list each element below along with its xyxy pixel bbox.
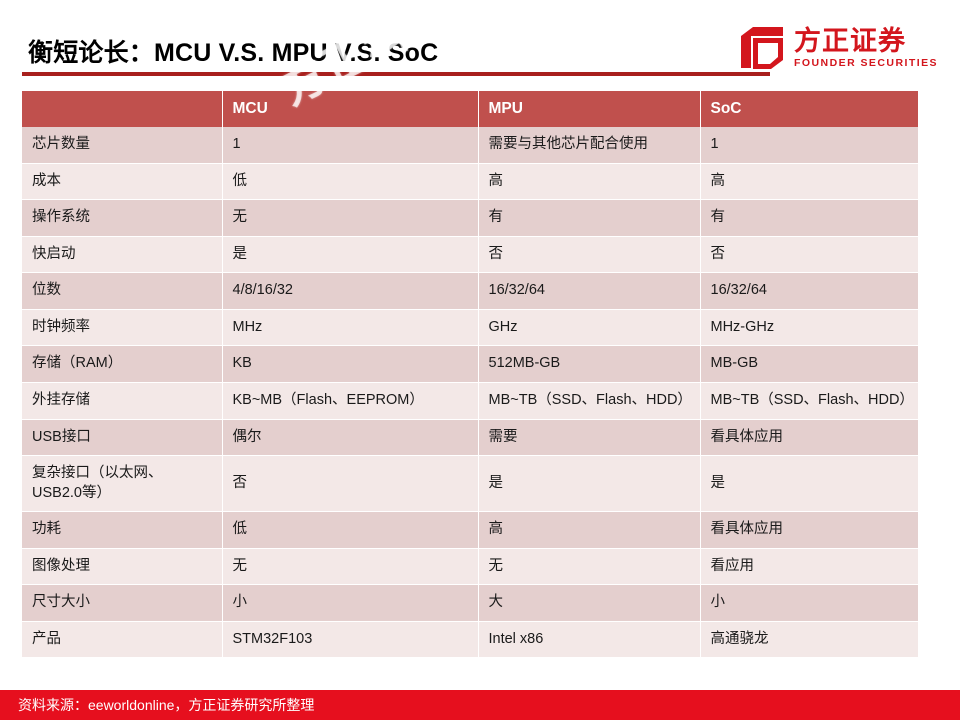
- comparison-table-container: MCU MPU SoC 芯片数量1需要与其他芯片配合使用1成本低高高操作系统无有…: [22, 91, 918, 658]
- logo-text-block: 方正证券 FOUNDER SECURITIES: [794, 27, 938, 69]
- cell-mpu-value: 否: [478, 236, 700, 273]
- cell-attribute-label: 产品: [22, 621, 222, 658]
- cell-attribute-label: 芯片数量: [22, 127, 222, 163]
- cell-mcu-value: 低: [222, 163, 478, 200]
- table-row: 位数4/8/16/3216/32/6416/32/64: [22, 273, 918, 310]
- cell-mcu-value: 低: [222, 512, 478, 549]
- cell-soc-value: 看应用: [700, 548, 918, 585]
- column-header-soc: SoC: [700, 91, 918, 127]
- cell-soc-value: MB~TB（SSD、Flash、HDD）: [700, 382, 918, 419]
- cell-mpu-value: MB~TB（SSD、Flash、HDD）: [478, 382, 700, 419]
- table-row: 外挂存储KB~MB（Flash、EEPROM）MB~TB（SSD、Flash、H…: [22, 382, 918, 419]
- table-row: 产品STM32F103Intel x86高通骁龙: [22, 621, 918, 658]
- founder-cube-icon: [739, 26, 785, 70]
- cell-mcu-value: MHz: [222, 309, 478, 346]
- cell-mcu-value: 4/8/16/32: [222, 273, 478, 310]
- comparison-table: MCU MPU SoC 芯片数量1需要与其他芯片配合使用1成本低高高操作系统无有…: [22, 91, 918, 658]
- company-logo: 方正证券 FOUNDER SECURITIES: [739, 26, 938, 70]
- cell-attribute-label: 操作系统: [22, 200, 222, 237]
- cell-mcu-value: 无: [222, 200, 478, 237]
- table-row: 快启动是否否: [22, 236, 918, 273]
- cell-mpu-value: 有: [478, 200, 700, 237]
- table-row: 存储（RAM）KB512MB-GBMB-GB: [22, 346, 918, 383]
- cell-soc-value: 高: [700, 163, 918, 200]
- cell-attribute-label: 存储（RAM）: [22, 346, 222, 383]
- cell-mpu-value: 需要: [478, 419, 700, 456]
- cell-mpu-value: 512MB-GB: [478, 346, 700, 383]
- cell-soc-value: 1: [700, 127, 918, 163]
- column-header-attribute: [22, 91, 222, 127]
- cell-soc-value: 小: [700, 585, 918, 622]
- cell-soc-value: 有: [700, 200, 918, 237]
- cell-soc-value: MB-GB: [700, 346, 918, 383]
- table-row: USB接口偶尔需要看具体应用: [22, 419, 918, 456]
- title-divider-rule-segment: [752, 72, 770, 76]
- cell-attribute-label: 成本: [22, 163, 222, 200]
- cell-mpu-value: Intel x86: [478, 621, 700, 658]
- cell-attribute-label: 快启动: [22, 236, 222, 273]
- logo-name-en: FOUNDER SECURITIES: [794, 58, 938, 69]
- column-header-mpu: MPU: [478, 91, 700, 127]
- cell-mpu-value: 需要与其他芯片配合使用: [478, 127, 700, 163]
- table-row: 功耗低高看具体应用: [22, 512, 918, 549]
- cell-attribute-label: 图像处理: [22, 548, 222, 585]
- cell-attribute-label: 时钟频率: [22, 309, 222, 346]
- slide-root: 衡短论长：MCU V.S. MPU V.S. SoC 方正证券 FOUNDER …: [0, 0, 960, 720]
- cell-mcu-value: 否: [222, 456, 478, 512]
- cell-mpu-value: 是: [478, 456, 700, 512]
- table-row: 芯片数量1需要与其他芯片配合使用1: [22, 127, 918, 163]
- cell-mcu-value: 偶尔: [222, 419, 478, 456]
- cell-mpu-value: GHz: [478, 309, 700, 346]
- cell-mpu-value: 16/32/64: [478, 273, 700, 310]
- slide-header: 衡短论长：MCU V.S. MPU V.S. SoC 方正证券 FOUNDER …: [0, 0, 960, 88]
- table-row: 图像处理无无看应用: [22, 548, 918, 585]
- table-row: 成本低高高: [22, 163, 918, 200]
- cell-mpu-value: 无: [478, 548, 700, 585]
- cell-soc-value: 看具体应用: [700, 419, 918, 456]
- footer-bar: 资料来源：eeworldonline，方正证券研究所整理: [0, 690, 960, 720]
- cell-soc-value: MHz-GHz: [700, 309, 918, 346]
- cell-soc-value: 否: [700, 236, 918, 273]
- cell-mcu-value: 是: [222, 236, 478, 273]
- table-row: 时钟频率MHzGHzMHz-GHz: [22, 309, 918, 346]
- cell-attribute-label: 功耗: [22, 512, 222, 549]
- cell-mpu-value: 大: [478, 585, 700, 622]
- page-title: 衡短论长：MCU V.S. MPU V.S. SoC: [28, 33, 438, 69]
- source-note: 资料来源：eeworldonline，方正证券研究所整理: [18, 695, 314, 715]
- cell-soc-value: 高通骁龙: [700, 621, 918, 658]
- cell-soc-value: 16/32/64: [700, 273, 918, 310]
- cell-mcu-value: 1: [222, 127, 478, 163]
- cell-attribute-label: 外挂存储: [22, 382, 222, 419]
- cell-soc-value: 看具体应用: [700, 512, 918, 549]
- cell-mcu-value: KB~MB（Flash、EEPROM）: [222, 382, 478, 419]
- cell-mcu-value: STM32F103: [222, 621, 478, 658]
- cell-attribute-label: USB接口: [22, 419, 222, 456]
- table-body: 芯片数量1需要与其他芯片配合使用1成本低高高操作系统无有有快启动是否否位数4/8…: [22, 127, 918, 658]
- cell-mcu-value: 小: [222, 585, 478, 622]
- column-header-mcu: MCU: [222, 91, 478, 127]
- table-row: 尺寸大小小大小: [22, 585, 918, 622]
- table-header-row: MCU MPU SoC: [22, 91, 918, 127]
- title-divider-rule: [22, 72, 762, 76]
- cell-mcu-value: 无: [222, 548, 478, 585]
- table-row: 操作系统无有有: [22, 200, 918, 237]
- cell-attribute-label: 尺寸大小: [22, 585, 222, 622]
- table-header-row-group: MCU MPU SoC: [22, 91, 918, 127]
- cell-attribute-label: 位数: [22, 273, 222, 310]
- cell-soc-value: 是: [700, 456, 918, 512]
- cell-attribute-label: 复杂接口（以太网、USB2.0等）: [22, 456, 222, 512]
- cell-mpu-value: 高: [478, 512, 700, 549]
- logo-name-cn: 方正证券: [794, 27, 938, 55]
- cell-mpu-value: 高: [478, 163, 700, 200]
- cell-mcu-value: KB: [222, 346, 478, 383]
- table-row: 复杂接口（以太网、USB2.0等）否是是: [22, 456, 918, 512]
